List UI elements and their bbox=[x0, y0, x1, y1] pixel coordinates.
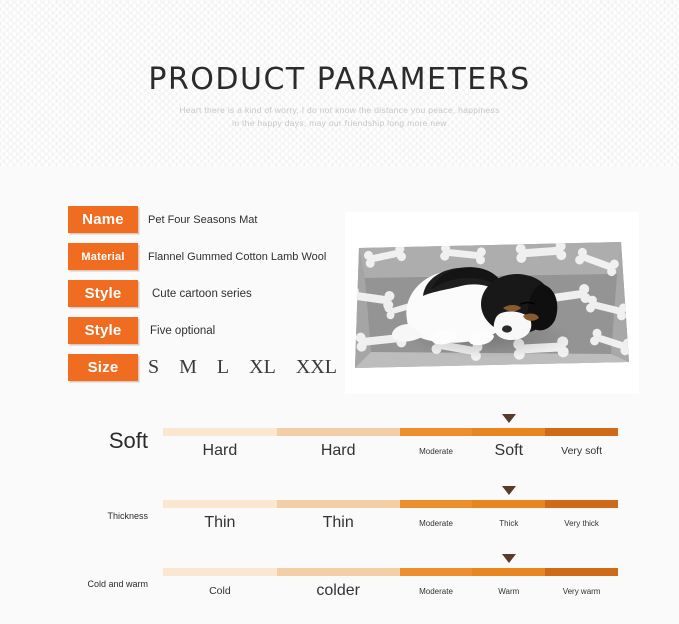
slider-segment-label: Moderate bbox=[400, 512, 473, 534]
slider-segment[interactable] bbox=[400, 568, 473, 576]
spec-label-badge: Size bbox=[68, 354, 138, 381]
slider-segment-labels: ThinThinModerateThickVery thick bbox=[163, 512, 618, 534]
slider-segment[interactable] bbox=[163, 568, 277, 576]
slider-row: Cold and warmColdcolderModerateWarmVery … bbox=[0, 546, 679, 614]
slider-segment[interactable] bbox=[163, 428, 277, 436]
spec-row: SizeSMLXLXXL bbox=[68, 354, 368, 391]
slider-segment-labels: ColdcolderModerateWarmVery warm bbox=[163, 580, 618, 602]
slider-bar[interactable] bbox=[163, 428, 618, 436]
size-option[interactable]: XXL bbox=[296, 356, 337, 379]
slider-segment-label: Thick bbox=[472, 512, 545, 534]
slider-segment[interactable] bbox=[163, 500, 277, 508]
slider-bar[interactable] bbox=[163, 568, 618, 576]
slider-bar[interactable] bbox=[163, 500, 618, 508]
slider-segment-label: Hard bbox=[163, 440, 277, 462]
spec-value: Pet Four Seasons Mat bbox=[148, 206, 257, 233]
size-option[interactable]: L bbox=[217, 356, 229, 379]
spec-row: MaterialFlannel Gummed Cotton Lamb Wool bbox=[68, 243, 368, 280]
slider-row: ThicknessThinThinModerateThickVery thick bbox=[0, 478, 679, 546]
spec-value: Five optional bbox=[150, 317, 215, 344]
slider-marker-icon bbox=[502, 554, 516, 563]
spec-row: NamePet Four Seasons Mat bbox=[68, 206, 368, 243]
slider-segment[interactable] bbox=[545, 568, 618, 576]
slider-segment[interactable] bbox=[472, 500, 545, 508]
page-title: PRODUCT PARAMETERS bbox=[0, 62, 679, 97]
slider-segment[interactable] bbox=[277, 568, 400, 576]
header-subtitle-line2: in the happy days, may our friendship lo… bbox=[0, 117, 679, 130]
slider-segment[interactable] bbox=[472, 428, 545, 436]
slider-segment-label: Thin bbox=[277, 512, 400, 534]
slider-segment[interactable] bbox=[545, 500, 618, 508]
spec-value: Cute cartoon series bbox=[152, 280, 252, 307]
slider-segment-label: colder bbox=[277, 580, 400, 602]
slider-segment[interactable] bbox=[277, 428, 400, 436]
slider-segment[interactable] bbox=[277, 500, 400, 508]
slider-row-label: Thickness bbox=[0, 511, 148, 521]
slider-segment-label: Very warm bbox=[545, 580, 618, 602]
slider-segment-label: Very soft bbox=[545, 440, 618, 462]
slider-segment-label: Soft bbox=[472, 440, 545, 462]
slider-segment-label: Moderate bbox=[400, 580, 473, 602]
slider-row-label: Soft bbox=[0, 428, 148, 454]
spec-row: StyleFive optional bbox=[68, 317, 368, 354]
header-subtitle: Heart there is a kind of worry, I do not… bbox=[0, 104, 679, 130]
slider-segment[interactable] bbox=[400, 500, 473, 508]
slider-segment-labels: HardHardModerateSoftVery soft bbox=[163, 440, 618, 462]
slider-segment-label: Cold bbox=[163, 580, 277, 602]
product-photo-illustration bbox=[345, 212, 639, 394]
slider-segment-label: Very thick bbox=[545, 512, 618, 534]
spec-value: Flannel Gummed Cotton Lamb Wool bbox=[148, 243, 326, 270]
slider-segment[interactable] bbox=[400, 428, 473, 436]
slider-segment-label: Hard bbox=[277, 440, 400, 462]
spec-label-badge: Name bbox=[68, 206, 138, 233]
product-parameters-page: PRODUCT PARAMETERS Heart there is a kind… bbox=[0, 0, 679, 624]
slider-segment[interactable] bbox=[472, 568, 545, 576]
spec-label-badge: Material bbox=[68, 243, 138, 270]
product-photo bbox=[345, 212, 639, 394]
slider-segment[interactable] bbox=[545, 428, 618, 436]
header-banner: PRODUCT PARAMETERS Heart there is a kind… bbox=[0, 0, 679, 166]
slider-marker-icon bbox=[502, 414, 516, 423]
header-subtitle-line1: Heart there is a kind of worry, I do not… bbox=[0, 104, 679, 117]
slider-segment-label: Warm bbox=[472, 580, 545, 602]
size-option[interactable]: M bbox=[179, 356, 197, 379]
slider-marker-icon bbox=[502, 486, 516, 495]
slider-segment-label: Thin bbox=[163, 512, 277, 534]
slider-row-label: Cold and warm bbox=[0, 579, 148, 589]
size-option[interactable]: S bbox=[148, 356, 159, 379]
slider-row: SoftHardHardModerateSoftVery soft bbox=[0, 406, 679, 474]
spec-row: StyleCute cartoon series bbox=[68, 280, 368, 317]
slider-segment-label: Moderate bbox=[400, 440, 473, 462]
spec-label-badge: Style bbox=[68, 317, 138, 344]
spec-list: NamePet Four Seasons MatMaterialFlannel … bbox=[68, 206, 368, 391]
size-option-list: SMLXLXXL bbox=[148, 350, 337, 384]
spec-label-badge: Style bbox=[68, 280, 138, 307]
size-option[interactable]: XL bbox=[249, 356, 276, 379]
